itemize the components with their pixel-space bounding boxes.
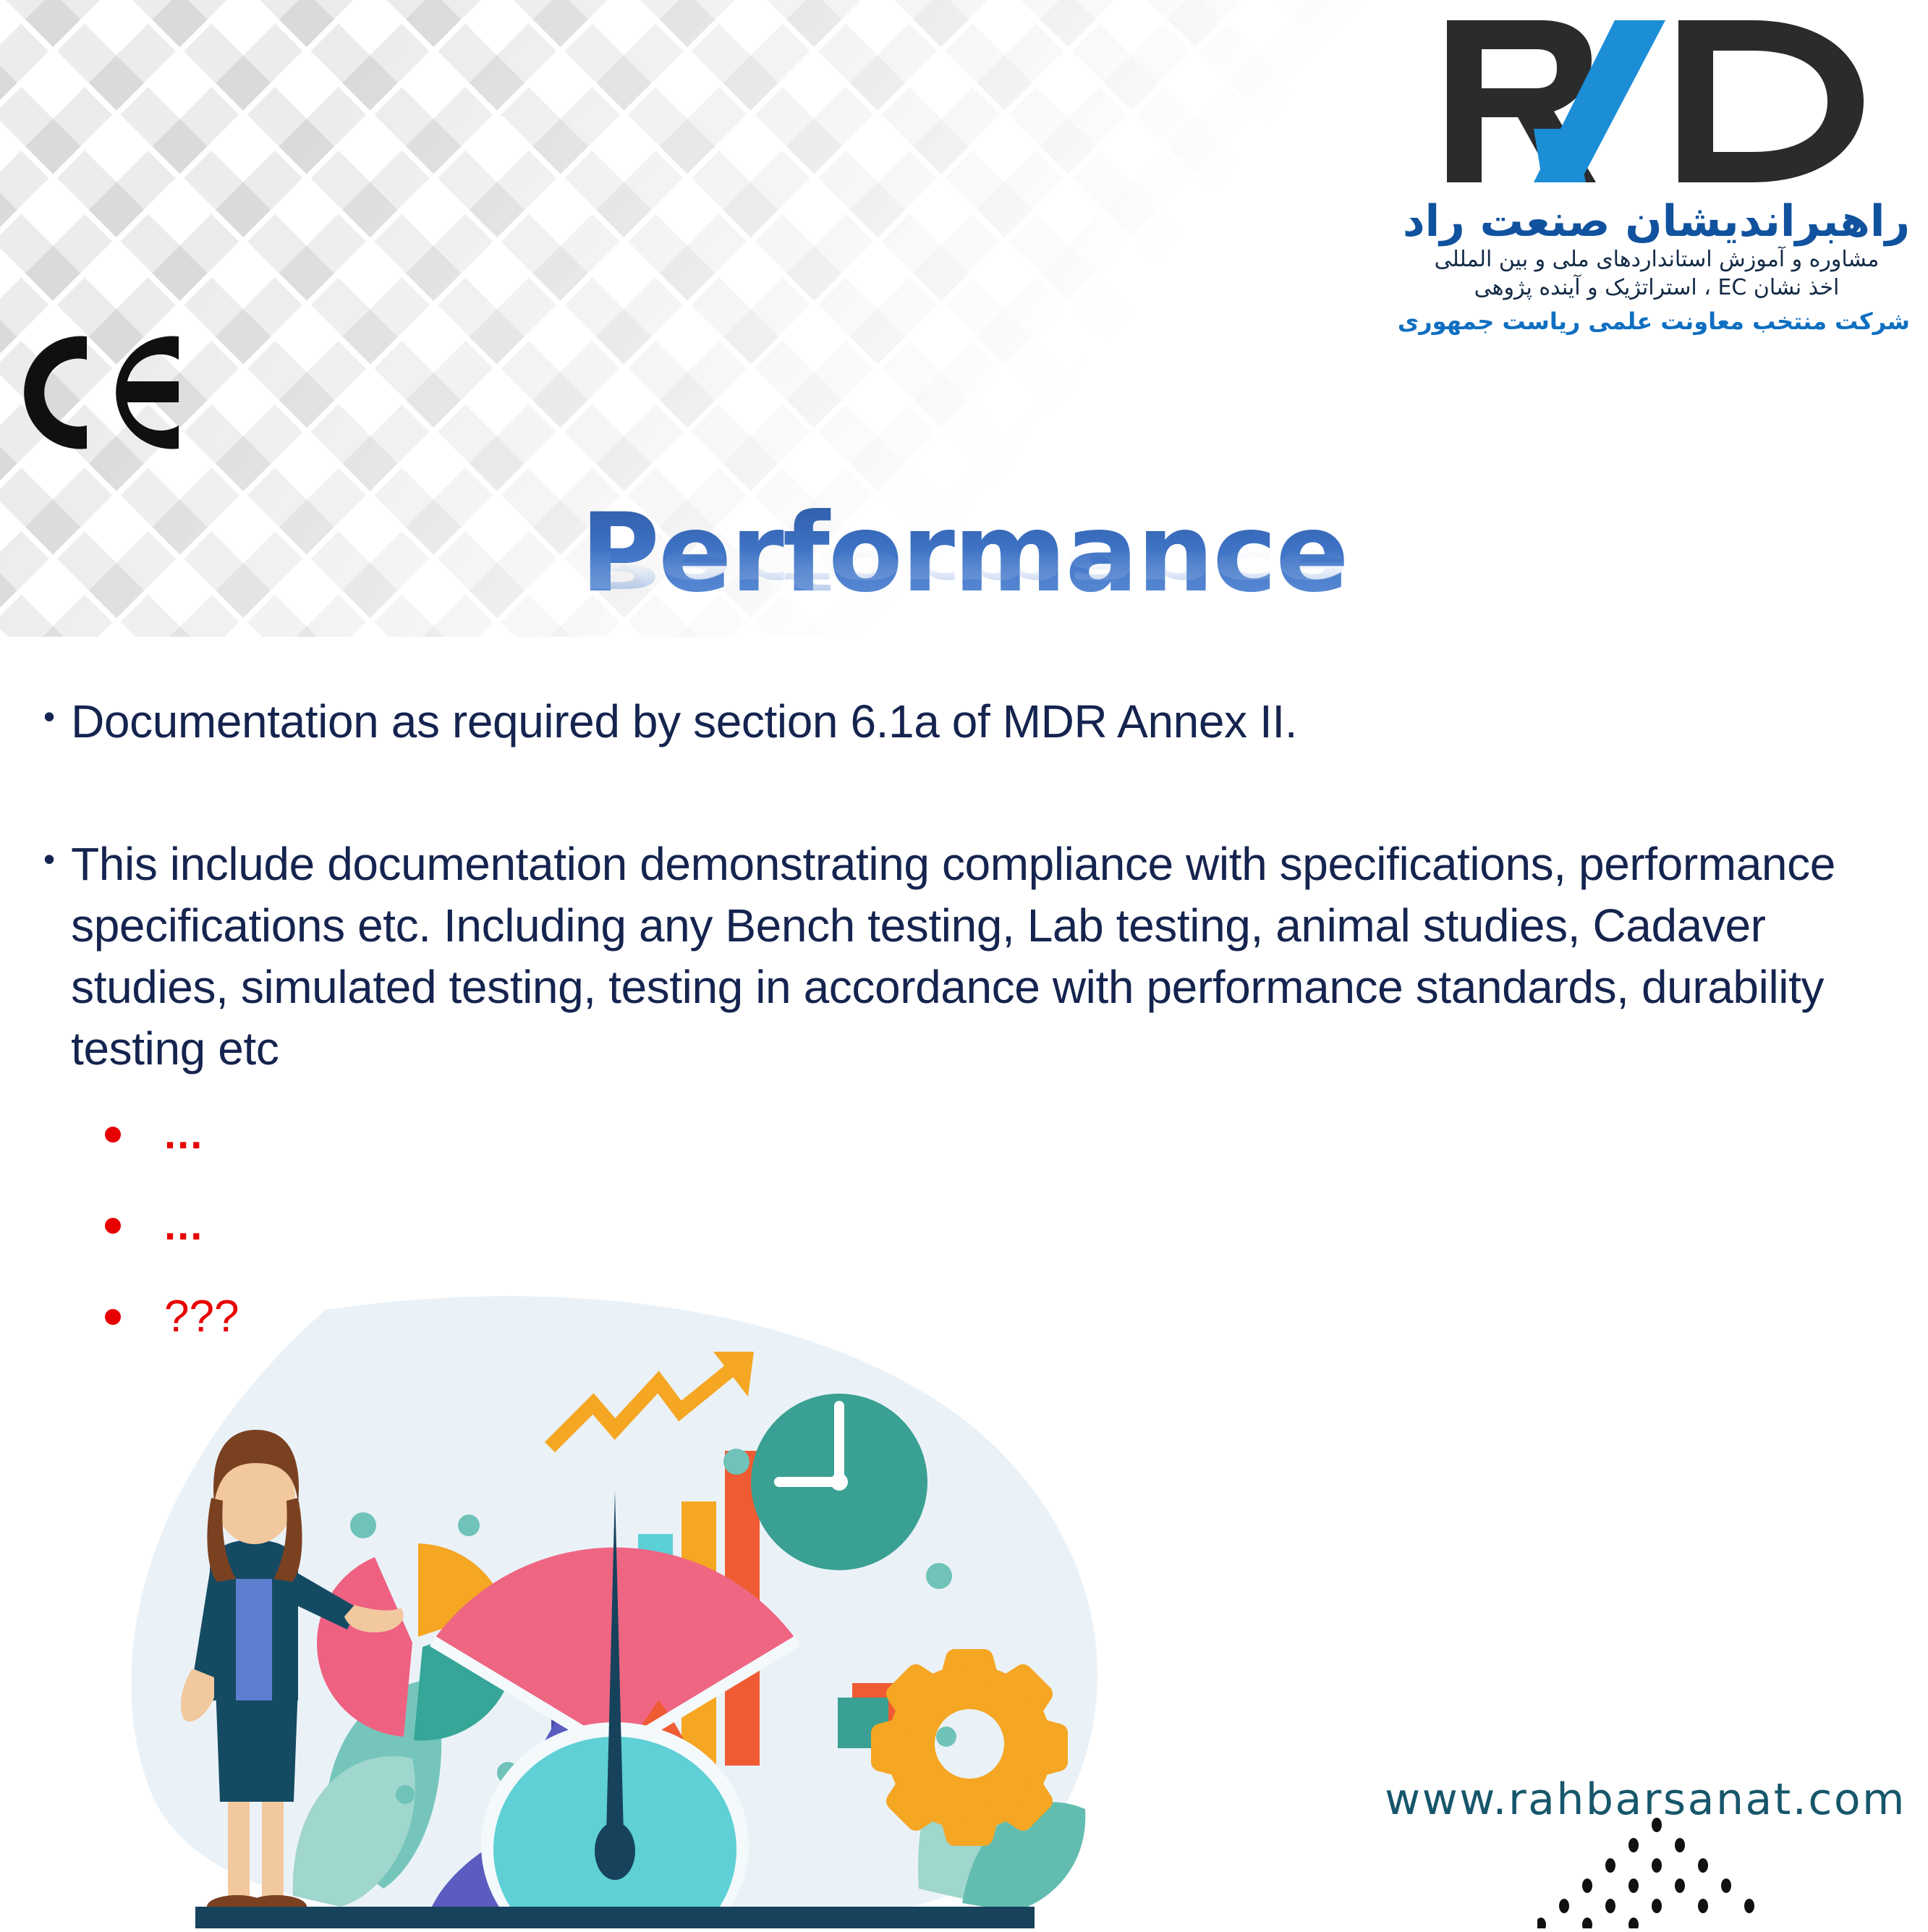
slide-title-reflection: Performance [0,543,1928,595]
sub-bullet-item: ... [105,1089,756,1180]
brand-logo-block: راهبراندیشان صنعت راد مشاوره و آموزش است… [1403,7,1910,337]
rad-wordmark-logo [1425,7,1888,195]
slide-title-wrapper: Performance Performance [0,499,1928,703]
selected-company-line: شرکت منتخب معاونت علمی ریاست جمهوری [1403,307,1910,337]
tagline-line-1: مشاوره و آموزش استانداردهای ملی و بین ال… [1403,245,1910,274]
sub-bullet-text: ... [164,1114,203,1156]
tagline-line-2: اخذ نشان CE ، استراتژیک و آینده پژوهی [1403,274,1910,302]
sub-bullet-text: ... [164,1205,203,1247]
bullet-item: • Documentation as required by section 6… [43,691,1895,753]
bullet-marker-icon: • [43,842,55,876]
dot-triangle-icon [1537,1816,1776,1928]
bullet-marker-icon: • [43,700,55,733]
bullet-text: This include documentation demonstrating… [71,834,1854,1080]
ce-mark-icon [18,329,184,456]
bullet-text: Documentation as required by section 6.1… [71,691,1297,753]
clock-icon [751,1394,927,1570]
gear-icon [880,1658,1058,1836]
floor-bar [195,1907,1035,1928]
performance-dashboard-illustration [109,1295,1121,1928]
sub-bullet-marker-icon [105,1127,121,1143]
slide-body: • Documentation as required by section 6… [43,691,1895,1080]
dot-triangle-decoration [1537,1816,1776,1928]
bullet-item: • This include documentation demonstrati… [43,834,1895,1080]
sub-bullet-marker-icon [105,1218,121,1234]
company-name: راهبراندیشان صنعت راد [1403,198,1910,245]
illustration-svg [109,1295,1121,1928]
sub-bullet-item: ... [105,1180,756,1271]
ce-mark [18,329,184,456]
